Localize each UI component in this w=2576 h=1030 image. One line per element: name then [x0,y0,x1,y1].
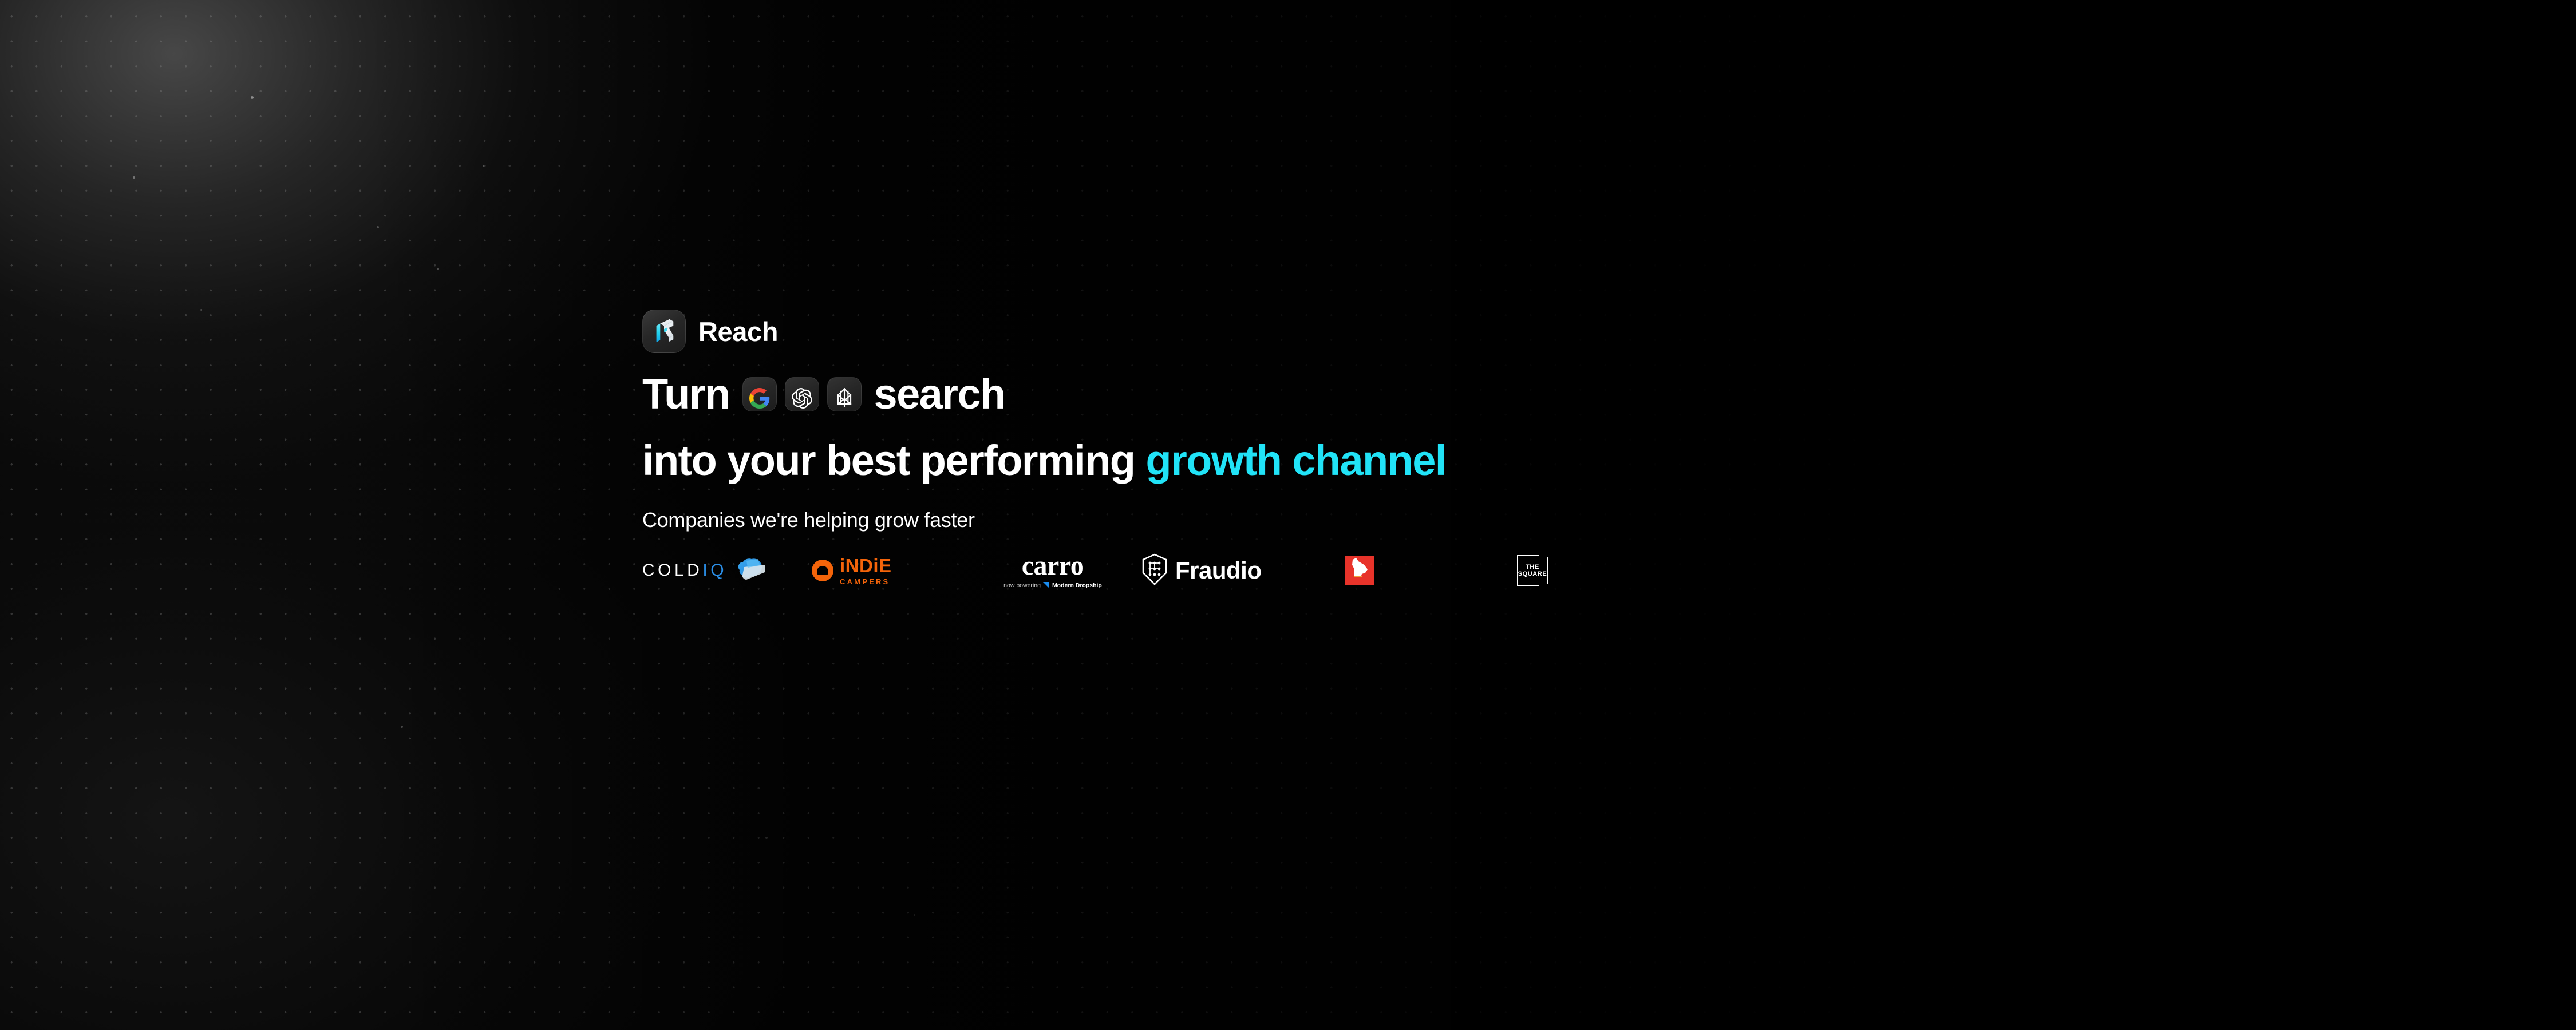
indie-campers-secondary: CAMPERS [840,578,892,585]
openai-icon-tile[interactable] [785,377,819,411]
brain-icon [735,557,767,585]
dog-head-logo[interactable] [1345,549,1517,592]
headline-line2-text: into your best performing [642,439,1135,482]
the-square-line-1: THE [1526,564,1539,571]
google-icon-tile[interactable] [742,377,777,411]
dog-head-icon-tile [1345,556,1374,585]
the-square-wordmark: THE SQUARE [1518,564,1547,578]
carro-tagline-prefix: now powering [1003,582,1041,589]
carro-tagline: now powering Modern Dropship [1003,582,1102,589]
headline-line-2: into your best performing growth channel [642,439,2131,482]
google-icon [749,373,770,415]
headline-line-1: Turn [642,373,2131,415]
headline-word-search: search [874,373,1005,415]
square-frame-gap-top [1539,554,1548,557]
coldiq-cold-text: COLD [642,561,702,580]
perplexity-icon [833,373,855,415]
carro-logo[interactable]: carro now powering Modern Dropship [964,549,1141,592]
modern-dropship-mark [1043,582,1049,588]
reach-logo-tile [642,310,686,353]
carro-tagline-brand: Modern Dropship [1052,582,1102,589]
headline-word-turn: Turn [642,373,730,415]
square-frame-gap-bottom [1539,584,1548,587]
social-proof-caption: Companies we're helping grow faster [642,508,2131,532]
headline-accent-text: growth channel [1145,439,1445,482]
headline: Turn [642,373,2131,482]
brand-name: Reach [698,316,778,347]
brand-row[interactable]: Reach [642,309,2131,354]
fraudio-wordmark: Fraudio [1175,557,1262,584]
perplexity-icon-tile[interactable] [827,377,862,411]
shield-network-icon [1141,553,1168,588]
ai-icon-group [742,377,862,411]
the-square-logo[interactable]: THE SQUARE [1517,549,1586,592]
openai-icon [792,373,812,415]
square-frame-icon: THE SQUARE [1517,555,1548,586]
dog-head-icon [1347,557,1372,585]
indie-campers-wordmark: iNDiE CAMPERS [840,556,892,585]
client-logo-row: COLDIQ [642,549,2131,592]
reach-isometric-r-icon [651,317,677,346]
circle-camper-icon [812,560,833,581]
hero-content: Reach Turn [642,309,2131,592]
the-square-line-2: SQUARE [1518,571,1547,577]
indie-campers-primary: iNDiE [840,556,892,575]
coldiq-logo[interactable]: COLDIQ [642,549,812,592]
hero-section: Reach Turn [0,0,2576,1030]
carro-wordmark: carro [1022,552,1084,579]
fraudio-logo[interactable]: Fraudio [1141,549,1345,592]
indie-campers-logo[interactable]: iNDiE CAMPERS [812,549,964,592]
coldiq-iq-text: IQ [702,561,727,580]
coldiq-wordmark: COLDIQ [642,561,727,580]
